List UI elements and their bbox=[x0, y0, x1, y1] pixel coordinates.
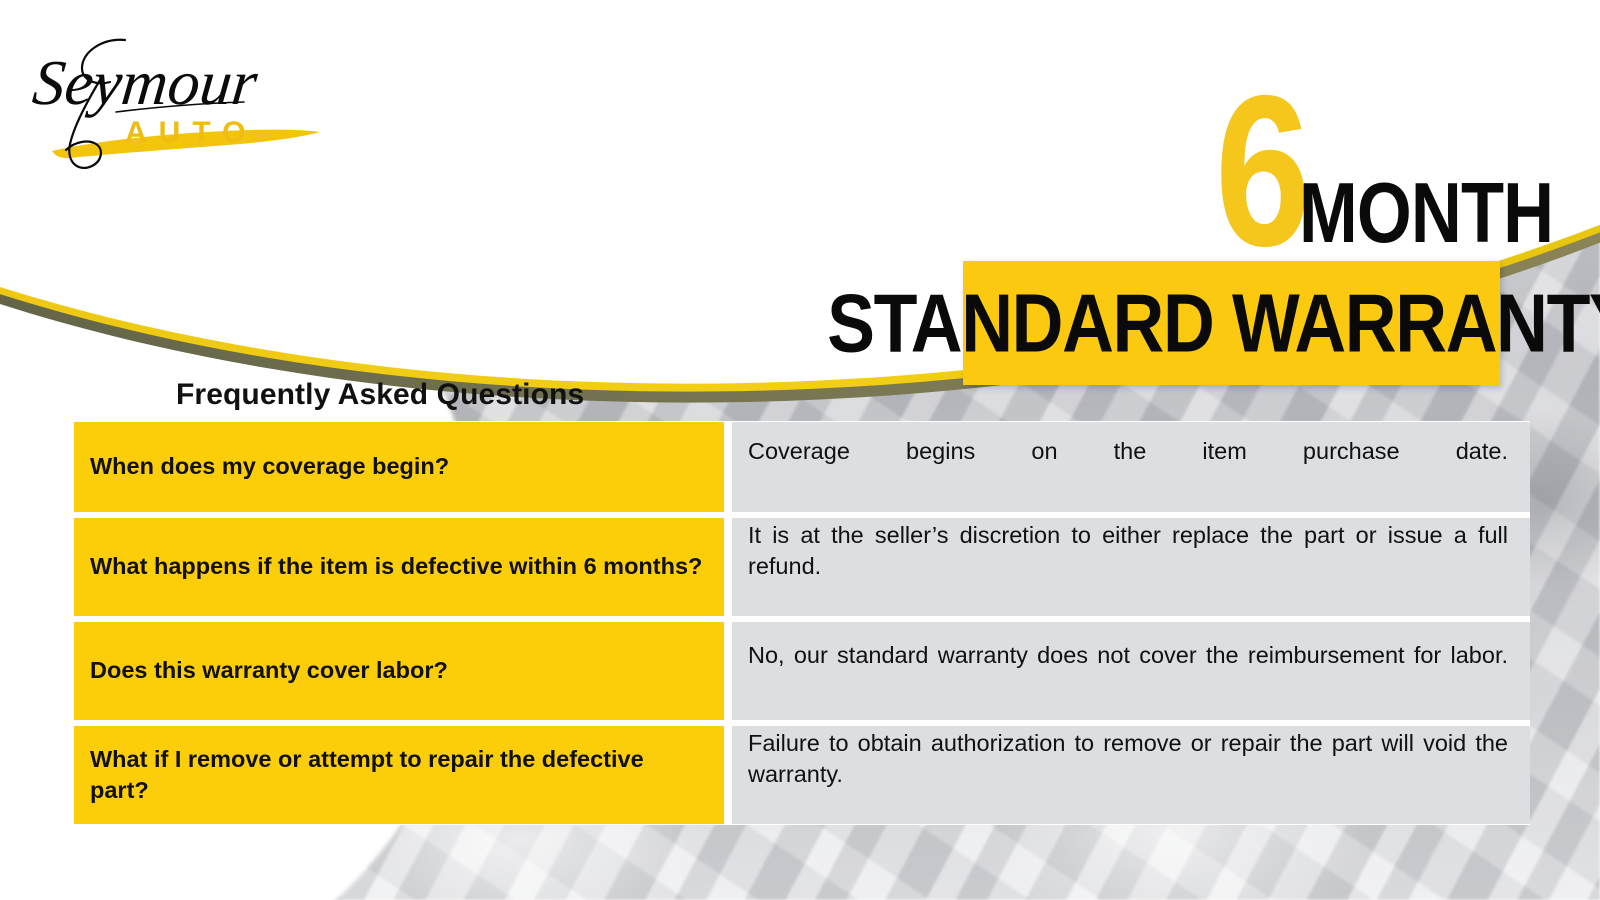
faq-question-text: When does my coverage begin? bbox=[90, 451, 449, 482]
faq-question-text: What if I remove or attempt to repair th… bbox=[90, 744, 708, 807]
faq-answer-cell: No, our standard warranty does not cover… bbox=[732, 622, 1530, 720]
standard-warranty-banner: STANDARD WARRANTY bbox=[963, 261, 1500, 385]
faq-answer-cell: It is at the seller’s discretion to eith… bbox=[732, 518, 1530, 616]
cell-gap bbox=[724, 518, 732, 616]
seymour-auto-logo: Seymour AUTO bbox=[30, 18, 330, 178]
logo-script-text: Seymour bbox=[30, 47, 262, 118]
faq-question-cell: When does my coverage begin? bbox=[74, 422, 724, 512]
duration-number: 6 bbox=[1215, 89, 1307, 252]
faq-row: What if I remove or attempt to repair th… bbox=[74, 726, 1530, 824]
faq-answer-text: Coverage begins on the item purchase dat… bbox=[748, 436, 1508, 499]
faq-heading: Frequently Asked Questions bbox=[176, 378, 584, 412]
faq-question-cell: Does this warranty cover labor? bbox=[74, 622, 724, 720]
faq-row: What happens if the item is defective wi… bbox=[74, 518, 1530, 616]
standard-warranty-title: STANDARD WARRANTY bbox=[827, 282, 1600, 365]
logo-auto-text: AUTO bbox=[125, 116, 257, 149]
faq-answer-cell: Failure to obtain authorization to remov… bbox=[732, 726, 1530, 824]
logo-artwork: Seymour AUTO bbox=[30, 18, 330, 178]
faq-answer-text: No, our standard warranty does not cover… bbox=[748, 640, 1508, 703]
faq-row: Does this warranty cover labor? No, our … bbox=[74, 622, 1530, 720]
faq-table: When does my coverage begin? Coverage be… bbox=[74, 421, 1530, 825]
duration-unit: MONTH bbox=[1299, 180, 1553, 248]
faq-question-cell: What happens if the item is defective wi… bbox=[74, 518, 724, 616]
faq-row: When does my coverage begin? Coverage be… bbox=[74, 422, 1530, 512]
cell-gap bbox=[724, 622, 732, 720]
faq-answer-text: It is at the seller’s discretion to eith… bbox=[748, 520, 1508, 614]
faq-answer-text: Failure to obtain authorization to remov… bbox=[748, 728, 1508, 822]
faq-question-text: What happens if the item is defective wi… bbox=[90, 551, 702, 582]
cell-gap bbox=[724, 422, 732, 512]
cell-gap bbox=[724, 726, 732, 824]
faq-question-text: Does this warranty cover labor? bbox=[90, 655, 448, 686]
duration-headline: 6 MONTH bbox=[1215, 84, 1594, 252]
warranty-slide: Seymour AUTO 6 MONTH STANDARD WARRANTY F… bbox=[0, 0, 1600, 900]
faq-answer-cell: Coverage begins on the item purchase dat… bbox=[732, 422, 1530, 512]
faq-question-cell: What if I remove or attempt to repair th… bbox=[74, 726, 724, 824]
